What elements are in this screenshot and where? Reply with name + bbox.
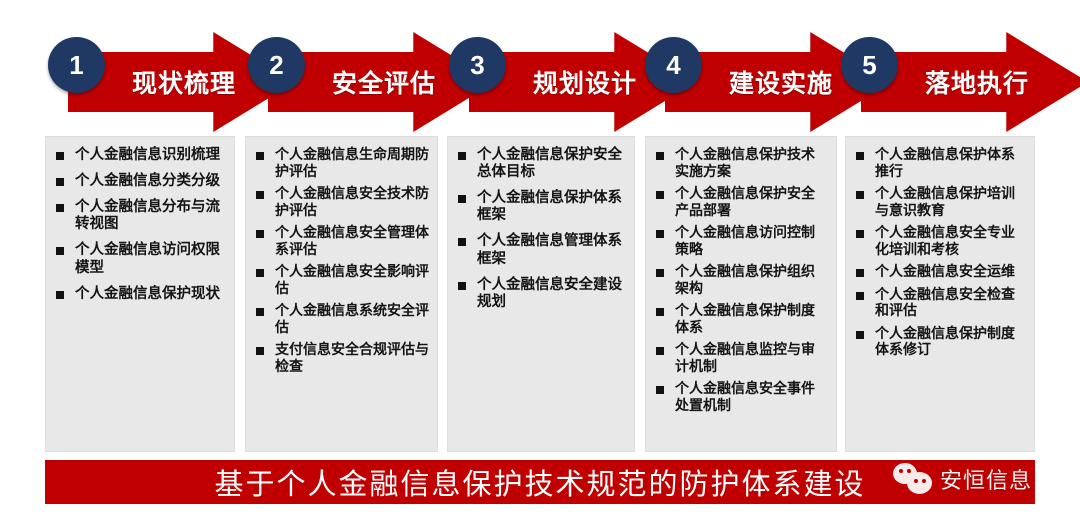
list-item: 个人金融信息安全技术防护评估 [254,186,429,219]
list-item: 个人金融信息保护现状 [54,286,226,303]
step-panel-3: 个人金融信息保护安全总体目标 个人金融信息保护体系框架 个人金融信息管理体系框架… [447,136,635,452]
list-item: 个人金融信息监控与审计机制 [654,342,828,375]
list-item: 个人金融信息保护技术实施方案 [654,147,828,180]
list-item: 个人金融信息系统安全评估 [254,303,429,336]
list-item: 个人金融信息保护制度体系修订 [854,326,1026,359]
list-item: 个人金融信息访问权限模型 [54,242,226,276]
summary-banner: 基于个人金融信息保护技术规范的防护体系建设 [45,460,1035,504]
process-step-4-number: 4 [645,37,702,93]
process-arrow-row: 现状梳理 1 安全评估 2 规划设计 3 建设实施 4 落地执行 5 [0,0,1080,140]
list-item: 个人金融信息安全专业化培训和考核 [854,225,1026,258]
list-item: 个人金融信息保护安全产品部署 [654,186,828,219]
list-item: 个人金融信息保护体系推行 [854,147,1026,180]
list-item: 个人金融信息访问控制策略 [654,225,828,258]
process-step-3-number: 3 [449,37,506,93]
list-item: 个人金融信息保护制度体系 [654,303,828,336]
list-item: 个人金融信息保护安全总体目标 [456,147,626,181]
step-panel-4-list: 个人金融信息保护技术实施方案 个人金融信息保护安全产品部署 个人金融信息访问控制… [654,147,828,414]
list-item: 个人金融信息保护体系框架 [456,190,626,224]
list-item: 支付信息安全合规评估与检查 [254,342,429,375]
slide-canvas: 现状梳理 1 安全评估 2 规划设计 3 建设实施 4 落地执行 5 个人金融信… [0,0,1080,528]
list-item: 个人金融信息保护组织架构 [654,264,828,297]
list-item: 个人金融信息分布与流转视图 [54,199,226,233]
list-item: 个人金融信息分类分级 [54,173,226,190]
list-item: 个人金融信息安全建设规划 [456,277,626,311]
list-item: 个人金融信息安全检查和评估 [854,287,1026,320]
list-item: 个人金融信息保护培训与意识教育 [854,186,1026,219]
step-panel-3-list: 个人金融信息保护安全总体目标 个人金融信息保护体系框架 个人金融信息管理体系框架… [456,147,626,311]
step-panel-4: 个人金融信息保护技术实施方案 个人金融信息保护安全产品部署 个人金融信息访问控制… [645,136,837,452]
list-item: 个人金融信息安全管理体系评估 [254,225,429,258]
process-step-2-number: 2 [248,37,305,93]
summary-banner-text: 基于个人金融信息保护技术规范的防护体系建设 [214,461,865,503]
list-item: 个人金融信息生命周期防护评估 [254,147,429,180]
step-panel-1-list: 个人金融信息识别梳理 个人金融信息分类分级 个人金融信息分布与流转视图 个人金融… [54,147,226,303]
list-item: 个人金融信息安全运维 [854,264,1026,281]
process-step-5-number: 5 [841,37,898,93]
step-panel-5: 个人金融信息保护体系推行 个人金融信息保护培训与意识教育 个人金融信息安全专业化… [845,136,1035,452]
list-item: 个人金融信息安全影响评估 [254,264,429,297]
process-step-5[interactable]: 落地执行 5 [833,32,1080,132]
list-item: 个人金融信息安全事件处置机制 [654,381,828,414]
step-panel-2: 个人金融信息生命周期防护评估 个人金融信息安全技术防护评估 个人金融信息安全管理… [245,136,438,452]
arrow-right-icon [861,32,1080,132]
step-panel-1: 个人金融信息识别梳理 个人金融信息分类分级 个人金融信息分布与流转视图 个人金融… [45,136,235,452]
process-step-1-number: 1 [48,37,105,93]
list-item: 个人金融信息识别梳理 [54,147,226,164]
list-item: 个人金融信息管理体系框架 [456,233,626,267]
step-panel-5-list: 个人金融信息保护体系推行 个人金融信息保护培训与意识教育 个人金融信息安全专业化… [854,147,1026,359]
step-panel-2-list: 个人金融信息生命周期防护评估 个人金融信息安全技术防护评估 个人金融信息安全管理… [254,147,429,375]
